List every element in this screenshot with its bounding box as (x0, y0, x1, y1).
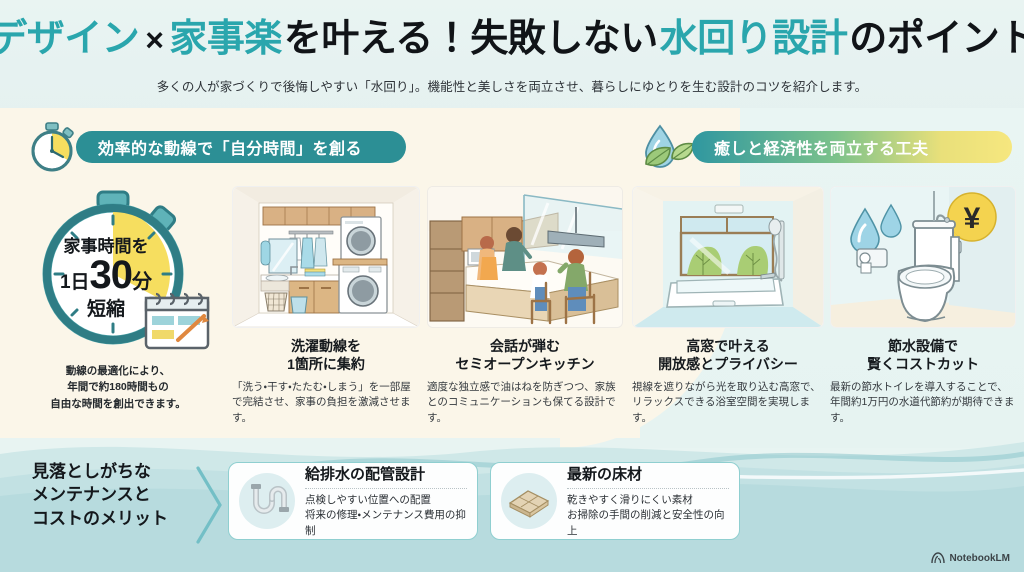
water-saving-toilet-illustration: ¥ (830, 186, 1016, 328)
svg-text:¥: ¥ (964, 202, 981, 235)
card-toilet-title-line-2: 賢くコストカット (830, 355, 1016, 373)
stat-caption-line-2: 年間で約180時間もの (18, 379, 218, 395)
card-kitchen-body: 適度な独立感で油はねを防ぎつつ、家族とのコミュニケーションも保てる設計です。 (427, 380, 623, 427)
laundry-room-illustration (232, 186, 420, 328)
watermark-label: NotebookLM (949, 553, 1010, 564)
bottom-section-label: 見落としがちな メンテナンスと コストのメリット (32, 460, 168, 530)
card-laundry-body: 「洗う・干す・たたむ・しまう」を一部屋で完結させ、家事の負担を激減させます。 (232, 380, 420, 427)
title-part-tail: のポイント (849, 18, 1024, 60)
bottom-card-flooring-title: 最新の床材 (567, 463, 729, 489)
card-bathroom-title: 高窓で叶える 開放感とプライバシー (632, 337, 824, 374)
card-bathroom-title-line-2: 開放感とプライバシー (632, 355, 824, 373)
chevron-right-icon (190, 462, 230, 548)
title-part-design: デザイン (0, 18, 141, 62)
stat-caption-line-1: 動線の最適化により、 (18, 363, 218, 379)
card-laundry-title-line-2: 1箇所に集約 (232, 355, 420, 373)
bottom-label-line-3: コストのメリット (32, 507, 168, 530)
bathroom-high-window-illustration (632, 186, 824, 328)
card-bathroom-body: 視線を遮りながら光を取り込む高窓で、リラックスできる浴室空間を実現します。 (632, 380, 824, 427)
card-kitchen: 会話が弾む セミオープンキッチン 適度な独立感で油はねを防ぎつつ、家族とのコミュ… (427, 186, 623, 427)
bottom-card-piping-line-2: 将来の修理・メンテナンス費用の抑制 (305, 508, 467, 539)
card-kitchen-title-line-2: セミオープンキッチン (427, 355, 623, 373)
card-kitchen-title-line-1: 会話が弾む (427, 337, 623, 355)
card-laundry: 洗濯動線を 1箇所に集約 「洗う・干す・たたむ・しまう」を一部屋で完結させ、家事… (232, 186, 420, 427)
stat-caption: 動線の最適化により、 年間で約180時間もの 自由な時間を創出できます。 (18, 363, 218, 412)
bottom-card-piping-line-1: 点検しやすい位置への配置 (305, 493, 467, 508)
bottom-card-piping[interactable]: 給排水の配管設計 点検しやすい位置への配置 将来の修理・メンテナンス費用の抑制 (228, 462, 478, 540)
card-toilet-body: 最新の節水トイレを導入することで、年間約1万円の水道代節約が期待できます。 (830, 380, 1016, 427)
section-header-comfort: 癒しと経済性を両立する工夫 (636, 120, 1012, 174)
notebooklm-icon (931, 552, 945, 564)
card-bathroom: 高窓で叶える 開放感とプライバシー 視線を遮りながら光を取り込む高窓で、リラック… (632, 186, 824, 427)
title-part-kajiraku: 家事楽 (167, 18, 284, 62)
page-subtitle: 多くの人が家づくりで後悔しやすい「水回り」。機能性と美しさを両立させ、暮らしにゆ… (0, 76, 1024, 95)
infographic-poster: デザイン×家事楽を叶える！失敗しない水回り設計のポイント 多くの人が家づくりで後… (0, 0, 1024, 572)
bottom-card-flooring-line-1: 乾きやすく滑りにくい素材 (567, 493, 729, 508)
card-laundry-title-line-1: 洗濯動線を (232, 337, 420, 355)
stat-caption-line-3: 自由な時間を創出できます。 (18, 396, 218, 412)
bottom-card-piping-title: 給排水の配管設計 (305, 463, 467, 489)
bottom-card-flooring[interactable]: 最新の床材 乾きやすく滑りにくい素材 お掃除の手間の削減と安全性の向上 (490, 462, 740, 540)
bottom-label-line-1: 見落としがちな (32, 460, 168, 483)
calendar-icon (146, 294, 209, 348)
page-title: デザイン×家事楽を叶える！失敗しない水回り設計のポイント (0, 0, 1024, 62)
bottom-label-line-2: メンテナンスと (32, 483, 168, 506)
stat-stopwatch-block: 家事時間を 1日 30 分 短縮 (18, 190, 218, 355)
card-toilet: ¥ 節水設備で 賢くコストカット 最新の節水トイレを導入することで、年間約1万円… (830, 186, 1016, 427)
card-toilet-title-line-1: 節水設備で (830, 337, 1016, 355)
stopwatch-icon (24, 120, 80, 174)
semi-open-kitchen-illustration (427, 186, 623, 328)
poster-header: デザイン×家事楽を叶える！失敗しない水回り設計のポイント 多くの人が家づくりで後… (0, 0, 1024, 95)
card-kitchen-title: 会話が弾む セミオープンキッチン (427, 337, 623, 374)
section-label-comfort: 癒しと経済性を両立する工夫 (692, 131, 1012, 163)
stopwatch-stat-icon (18, 190, 218, 358)
water-drop-leaf-icon (636, 120, 698, 174)
floor-tile-icon (501, 473, 557, 529)
bottom-card-flooring-line-2: お掃除の手間の削減と安全性の向上 (567, 508, 729, 539)
card-bathroom-title-line-1: 高窓で叶える (632, 337, 824, 355)
title-part-mizumawari: 水回り設計 (658, 18, 850, 62)
section-label-efficiency: 効率的な動線で「自分時間」を創る (76, 131, 406, 163)
card-toilet-title: 節水設備で 賢くコストカット (830, 337, 1016, 374)
p-trap-pipe-icon (239, 473, 295, 529)
title-part-times: × (141, 22, 167, 58)
card-laundry-title: 洗濯動線を 1箇所に集約 (232, 337, 420, 374)
title-part-middle: を叶える！失敗しない (284, 18, 658, 60)
watermark: NotebookLM (931, 552, 1010, 564)
section-header-efficiency: 効率的な動線で「自分時間」を創る (24, 120, 406, 174)
